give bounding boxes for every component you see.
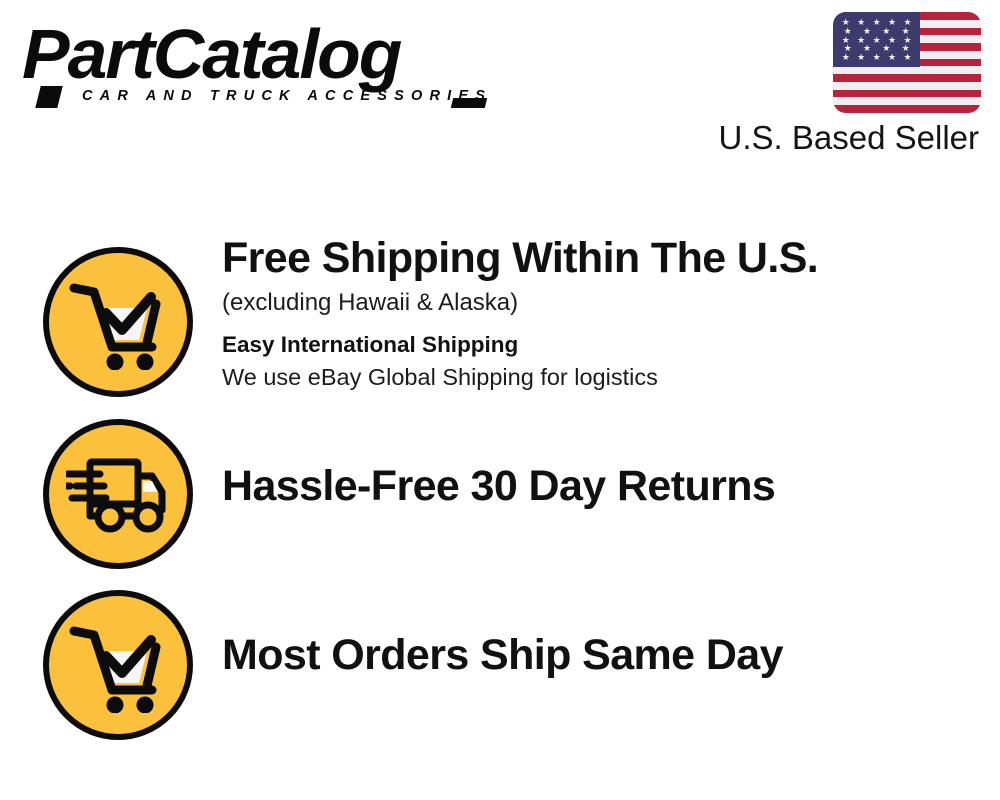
feature-text: Hassle-Free 30 Day Returns xyxy=(222,460,982,512)
banner-header: PartCatalog CAR AND TRUCK ACCESSORIES xyxy=(0,0,1000,175)
feature-row: Free Shipping Within The U.S. (excluding… xyxy=(0,228,1000,400)
feature-row: Most Orders Ship Same Day xyxy=(0,571,1000,742)
feature-text: Most Orders Ship Same Day xyxy=(222,629,982,681)
feature-text: Free Shipping Within The U.S. (excluding… xyxy=(222,232,982,393)
feature-note: (excluding Hawaii & Alaska) xyxy=(222,287,982,319)
logo-wedge-right-icon xyxy=(451,98,487,108)
feature-list: Free Shipping Within The U.S. (excluding… xyxy=(0,228,1000,742)
brand-logo: PartCatalog CAR AND TRUCK ACCESSORIES xyxy=(22,18,492,118)
flag-canton: ★★★★★ ★★★★ ★★★★★ ★★★★ ★★★★★ xyxy=(833,12,920,67)
feature-title: Free Shipping Within The U.S. xyxy=(222,232,982,284)
seller-label: U.S. Based Seller xyxy=(719,118,979,158)
shopping-cart-check-icon xyxy=(43,247,193,397)
feature-subtitle: We use eBay Global Shipping for logistic… xyxy=(222,361,982,393)
brand-wordmark: PartCatalog xyxy=(22,18,501,90)
feature-title: Hassle-Free 30 Day Returns xyxy=(222,460,982,512)
logo-wedge-left-icon xyxy=(35,86,62,108)
feature-row: Hassle-Free 30 Day Returns xyxy=(0,400,1000,571)
feature-title: Most Orders Ship Same Day xyxy=(222,629,982,681)
us-flag-icon: ★★★★★ ★★★★ ★★★★★ ★★★★ ★★★★★ xyxy=(833,12,981,113)
brand-tagline-row: CAR AND TRUCK ACCESSORIES xyxy=(22,86,492,112)
feature-subtitle-strong: Easy International Shipping xyxy=(222,329,982,360)
seller-info-banner: PartCatalog CAR AND TRUCK ACCESSORIES xyxy=(0,0,1000,800)
delivery-truck-icon xyxy=(43,419,193,569)
brand-tagline: CAR AND TRUCK ACCESSORIES xyxy=(82,88,492,104)
shopping-cart-check-icon xyxy=(43,590,193,740)
us-based-seller-badge: ★★★★★ ★★★★ ★★★★★ ★★★★ ★★★★★ U.S. Based S… xyxy=(716,10,986,160)
